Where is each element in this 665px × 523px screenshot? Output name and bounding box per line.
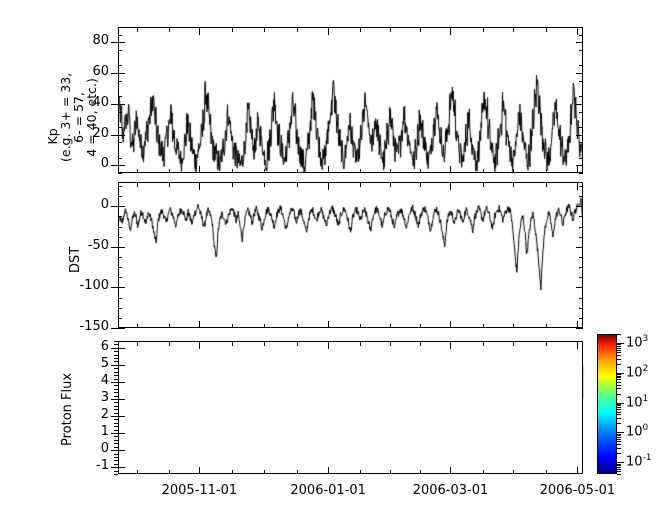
colorbar-minor-tick — [617, 350, 621, 351]
y-tick — [111, 42, 118, 43]
y-tick — [114, 344, 118, 345]
colorbar-tick-label: 103 — [626, 334, 648, 350]
x-tick — [513, 470, 514, 474]
y-tick — [118, 247, 125, 248]
x-tick — [390, 183, 391, 187]
x-tick — [360, 28, 361, 32]
y-tick — [118, 257, 122, 258]
y-tick — [118, 237, 122, 238]
proton-flux-y-tick-label: 1 — [101, 425, 109, 438]
y-tick — [114, 416, 118, 417]
y-tick — [118, 81, 122, 82]
x-tick — [169, 169, 170, 173]
y-tick — [111, 287, 118, 288]
x-tick — [264, 324, 265, 328]
y-tick — [579, 96, 583, 97]
colorbar-minor-tick — [617, 441, 621, 442]
x-tick — [450, 166, 451, 173]
colorbar-tick — [617, 432, 624, 433]
proton-flux-y-tick-label: 6 — [101, 340, 109, 353]
x-tick — [513, 28, 514, 32]
colorbar-minor-tick — [617, 471, 621, 472]
y-tick — [118, 50, 122, 51]
proton-flux-axis-title: Proton Flux — [60, 372, 75, 445]
y-tick — [576, 42, 583, 43]
colorbar-minor-tick — [617, 374, 621, 375]
y-tick — [579, 35, 583, 36]
x-tick — [483, 342, 484, 346]
y-tick — [576, 135, 583, 136]
x-tick — [264, 169, 265, 173]
x-tick — [420, 470, 421, 474]
x-tick — [450, 467, 451, 474]
colorbar-minor-tick — [617, 394, 621, 395]
colorbar-minor-tick — [617, 439, 621, 440]
y-tick — [114, 447, 118, 448]
y-tick — [114, 467, 118, 468]
y-tick — [118, 158, 122, 159]
colorbar-minor-tick — [617, 344, 621, 345]
colorbar-minor-tick — [617, 434, 621, 435]
dst-y-tick-label: -100 — [79, 279, 109, 292]
y-tick — [118, 135, 125, 136]
x-tick — [360, 169, 361, 173]
x-tick — [297, 183, 298, 187]
y-tick — [118, 416, 125, 417]
x-tick-label: 2005-11-01 — [139, 483, 259, 498]
x-tick — [328, 183, 329, 190]
colorbar-minor-tick — [617, 448, 621, 449]
y-tick — [118, 142, 122, 143]
y-tick — [576, 206, 583, 207]
y-tick — [118, 287, 125, 288]
x-tick — [546, 28, 547, 32]
x-tick — [546, 342, 547, 346]
colorbar-minor-tick — [617, 467, 621, 468]
x-tick — [232, 28, 233, 32]
y-tick — [579, 127, 583, 128]
y-tick — [114, 385, 118, 386]
x-tick — [297, 470, 298, 474]
x-tick — [513, 342, 514, 346]
x-tick — [137, 183, 138, 187]
x-tick — [546, 470, 547, 474]
x-tick — [483, 470, 484, 474]
x-tick-label: 2006-05-01 — [517, 483, 637, 498]
proton-flux-y-tick-label: 5 — [101, 357, 109, 370]
x-tick — [360, 470, 361, 474]
y-tick — [114, 419, 118, 420]
colorbar-minor-tick — [617, 435, 621, 436]
x-tick — [232, 470, 233, 474]
y-tick — [114, 454, 118, 455]
x-tick — [137, 470, 138, 474]
y-tick — [579, 237, 583, 238]
x-tick — [450, 28, 451, 35]
x-tick — [232, 169, 233, 173]
y-tick — [118, 267, 122, 268]
y-tick — [114, 450, 118, 451]
y-tick — [118, 318, 122, 319]
y-tick — [118, 104, 125, 105]
x-tick — [577, 321, 578, 328]
colorbar-minor-tick — [617, 464, 621, 465]
x-tick — [546, 183, 547, 187]
x-tick — [199, 342, 200, 349]
y-tick — [118, 277, 122, 278]
y-tick — [118, 433, 125, 434]
y-tick — [118, 73, 125, 74]
x-tick — [577, 342, 578, 349]
colorbar-minor-tick — [617, 364, 621, 365]
y-tick — [114, 372, 118, 373]
x-tick — [577, 467, 578, 474]
colorbar-minor-tick — [617, 412, 621, 413]
y-tick — [114, 440, 118, 441]
colorbar-minor-tick — [617, 352, 621, 353]
x-tick — [513, 183, 514, 187]
x-tick — [199, 166, 200, 173]
x-tick — [297, 169, 298, 173]
colorbar-minor-tick — [617, 453, 621, 454]
y-tick — [111, 165, 118, 166]
x-tick — [577, 183, 578, 190]
dst-y-tick-label: -50 — [88, 239, 109, 252]
y-tick — [576, 73, 583, 74]
y-tick — [118, 65, 122, 66]
proton-flux-y-tick-label: 2 — [101, 408, 109, 421]
y-tick — [118, 328, 125, 329]
dst-axis-title: DST — [68, 247, 83, 273]
y-tick — [118, 365, 125, 366]
y-tick — [118, 186, 122, 187]
x-tick — [169, 324, 170, 328]
colorbar-tick — [617, 462, 624, 463]
y-tick — [576, 328, 583, 329]
x-tick — [297, 28, 298, 32]
y-tick — [579, 173, 583, 174]
y-tick — [579, 227, 583, 228]
x-tick — [137, 324, 138, 328]
y-tick — [114, 423, 118, 424]
proton-flux-y-tick-label: 3 — [101, 391, 109, 404]
y-tick — [111, 135, 118, 136]
y-tick — [114, 368, 118, 369]
y-tick — [118, 348, 125, 349]
colorbar-tick-label: 101 — [626, 394, 648, 410]
x-tick — [328, 342, 329, 349]
y-tick — [114, 409, 118, 410]
y-tick — [118, 196, 122, 197]
dst-y-tick-label: -150 — [79, 320, 109, 333]
kp-axis-title: Kp(e.g. 3+ = 33,6- = 57,4 = 40, etc.) — [46, 73, 98, 162]
x-tick — [420, 183, 421, 187]
x-tick — [513, 169, 514, 173]
x-tick — [297, 342, 298, 346]
y-tick — [576, 104, 583, 105]
colorbar — [597, 334, 617, 474]
y-tick — [118, 227, 122, 228]
y-tick — [118, 399, 125, 400]
x-tick — [390, 324, 391, 328]
y-tick — [579, 257, 583, 258]
y-tick — [114, 460, 118, 461]
y-tick — [579, 112, 583, 113]
colorbar-tick-label: 100 — [626, 423, 648, 439]
y-tick — [579, 50, 583, 51]
y-tick — [118, 382, 125, 383]
colorbar-minor-tick — [617, 382, 621, 383]
y-tick — [114, 351, 118, 352]
y-tick — [579, 216, 583, 217]
y-tick — [576, 287, 583, 288]
y-tick — [114, 365, 118, 366]
x-tick — [390, 28, 391, 32]
kp-y-tick-label: 80 — [92, 34, 109, 47]
x-tick — [264, 470, 265, 474]
x-tick — [450, 321, 451, 328]
x-tick — [450, 183, 451, 190]
x-tick — [232, 342, 233, 346]
y-tick — [114, 464, 118, 465]
y-tick — [576, 165, 583, 166]
y-tick — [579, 196, 583, 197]
y-tick — [114, 348, 118, 349]
colorbar-minor-tick — [617, 407, 621, 408]
y-tick — [118, 467, 125, 468]
colorbar-minor-tick — [617, 377, 621, 378]
kp-y-tick-label: 0 — [101, 157, 109, 170]
proton-flux-panel — [118, 341, 583, 474]
proton-flux-y-tick-label: 0 — [101, 442, 109, 455]
y-tick — [579, 142, 583, 143]
y-tick — [114, 402, 118, 403]
y-tick — [118, 127, 122, 128]
x-tick — [420, 169, 421, 173]
x-tick — [483, 183, 484, 187]
x-tick — [264, 183, 265, 187]
y-tick — [114, 389, 118, 390]
y-tick — [114, 392, 118, 393]
colorbar-minor-tick — [617, 409, 621, 410]
y-tick — [576, 247, 583, 248]
colorbar-minor-tick — [617, 405, 621, 406]
x-tick — [232, 324, 233, 328]
x-tick — [420, 28, 421, 32]
y-tick — [114, 379, 118, 380]
x-tick — [169, 470, 170, 474]
y-tick — [114, 413, 118, 414]
x-tick — [328, 321, 329, 328]
y-tick — [114, 396, 118, 397]
y-tick — [114, 436, 118, 437]
y-tick — [118, 216, 122, 217]
y-tick — [114, 358, 118, 359]
x-tick — [420, 324, 421, 328]
colorbar-minor-tick — [617, 355, 621, 356]
y-tick — [579, 298, 583, 299]
colorbar-minor-tick — [617, 388, 621, 389]
y-tick — [114, 426, 118, 427]
y-tick — [114, 382, 118, 383]
x-tick — [360, 342, 361, 346]
x-tick — [577, 28, 578, 35]
x-tick — [390, 169, 391, 173]
y-tick — [114, 361, 118, 362]
y-tick — [111, 247, 118, 248]
y-tick — [118, 42, 125, 43]
colorbar-minor-tick — [617, 423, 621, 424]
colorbar-minor-tick — [617, 414, 621, 415]
y-tick — [118, 96, 122, 97]
y-tick — [579, 267, 583, 268]
dst-y-tick-label: 0 — [101, 198, 109, 211]
colorbar-tick-label: 10-1 — [626, 453, 652, 469]
y-tick — [118, 173, 122, 174]
proton-flux-y-tick-label: 4 — [101, 374, 109, 387]
x-tick — [199, 321, 200, 328]
colorbar-minor-tick — [617, 437, 621, 438]
colorbar-minor-tick — [617, 379, 621, 380]
kp-axis-title-line: 4 = 40, etc.) — [85, 73, 98, 162]
y-tick — [118, 35, 122, 36]
y-tick — [579, 318, 583, 319]
x-tick — [513, 324, 514, 328]
colorbar-minor-tick — [617, 348, 621, 349]
x-tick — [232, 183, 233, 187]
x-tick — [137, 169, 138, 173]
x-tick — [450, 342, 451, 349]
x-tick — [328, 166, 329, 173]
x-tick — [390, 470, 391, 474]
y-tick — [579, 81, 583, 82]
x-tick — [483, 324, 484, 328]
y-tick — [111, 328, 118, 329]
x-tick — [264, 342, 265, 346]
y-tick — [114, 474, 118, 475]
x-tick-label: 2006-03-01 — [390, 483, 510, 498]
x-tick — [577, 166, 578, 173]
x-tick — [199, 467, 200, 474]
colorbar-minor-tick — [617, 404, 621, 405]
x-tick — [137, 342, 138, 346]
x-tick — [199, 28, 200, 35]
y-tick — [114, 443, 118, 444]
colorbar-minor-tick — [617, 376, 621, 377]
y-tick — [579, 158, 583, 159]
colorbar-minor-tick — [617, 359, 621, 360]
colorbar-minor-tick — [617, 465, 621, 466]
x-tick — [169, 342, 170, 346]
colorbar-minor-tick — [617, 474, 621, 475]
x-tick — [169, 183, 170, 187]
y-tick — [114, 430, 118, 431]
y-tick — [579, 65, 583, 66]
y-tick — [579, 308, 583, 309]
colorbar-minor-tick — [617, 334, 621, 335]
colorbar-minor-tick — [617, 418, 621, 419]
y-tick — [114, 471, 118, 472]
x-tick — [328, 467, 329, 474]
y-tick — [114, 355, 118, 356]
y-tick — [114, 433, 118, 434]
y-tick — [111, 104, 118, 105]
y-tick — [579, 277, 583, 278]
y-tick — [118, 165, 125, 166]
proton-flux-y-tick-label: -1 — [96, 459, 109, 472]
colorbar-minor-tick — [617, 346, 621, 347]
y-tick — [118, 308, 122, 309]
y-tick — [118, 206, 125, 207]
x-tick — [546, 324, 547, 328]
y-tick — [118, 298, 122, 299]
figure-root: 2005-11-012006-01-012006-03-012006-05-01… — [0, 0, 665, 523]
colorbar-minor-tick — [617, 469, 621, 470]
x-tick — [483, 169, 484, 173]
x-tick — [420, 342, 421, 346]
x-tick-label: 2006-01-01 — [268, 483, 388, 498]
x-tick — [360, 324, 361, 328]
x-tick — [360, 183, 361, 187]
colorbar-tick-label: 102 — [626, 364, 648, 380]
x-tick — [199, 183, 200, 190]
x-tick — [546, 169, 547, 173]
y-tick — [111, 206, 118, 207]
x-tick — [297, 324, 298, 328]
x-tick — [390, 342, 391, 346]
y-tick — [114, 399, 118, 400]
colorbar-minor-tick — [617, 385, 621, 386]
x-tick — [328, 28, 329, 35]
colorbar-minor-tick — [617, 444, 621, 445]
y-tick — [111, 73, 118, 74]
y-tick — [114, 406, 118, 407]
x-tick — [483, 28, 484, 32]
x-tick — [169, 28, 170, 32]
x-tick — [264, 28, 265, 32]
y-tick — [114, 375, 118, 376]
y-tick — [118, 112, 122, 113]
y-tick — [579, 186, 583, 187]
y-tick — [114, 341, 118, 342]
y-tick — [118, 450, 125, 451]
y-tick — [114, 457, 118, 458]
x-tick — [137, 28, 138, 32]
